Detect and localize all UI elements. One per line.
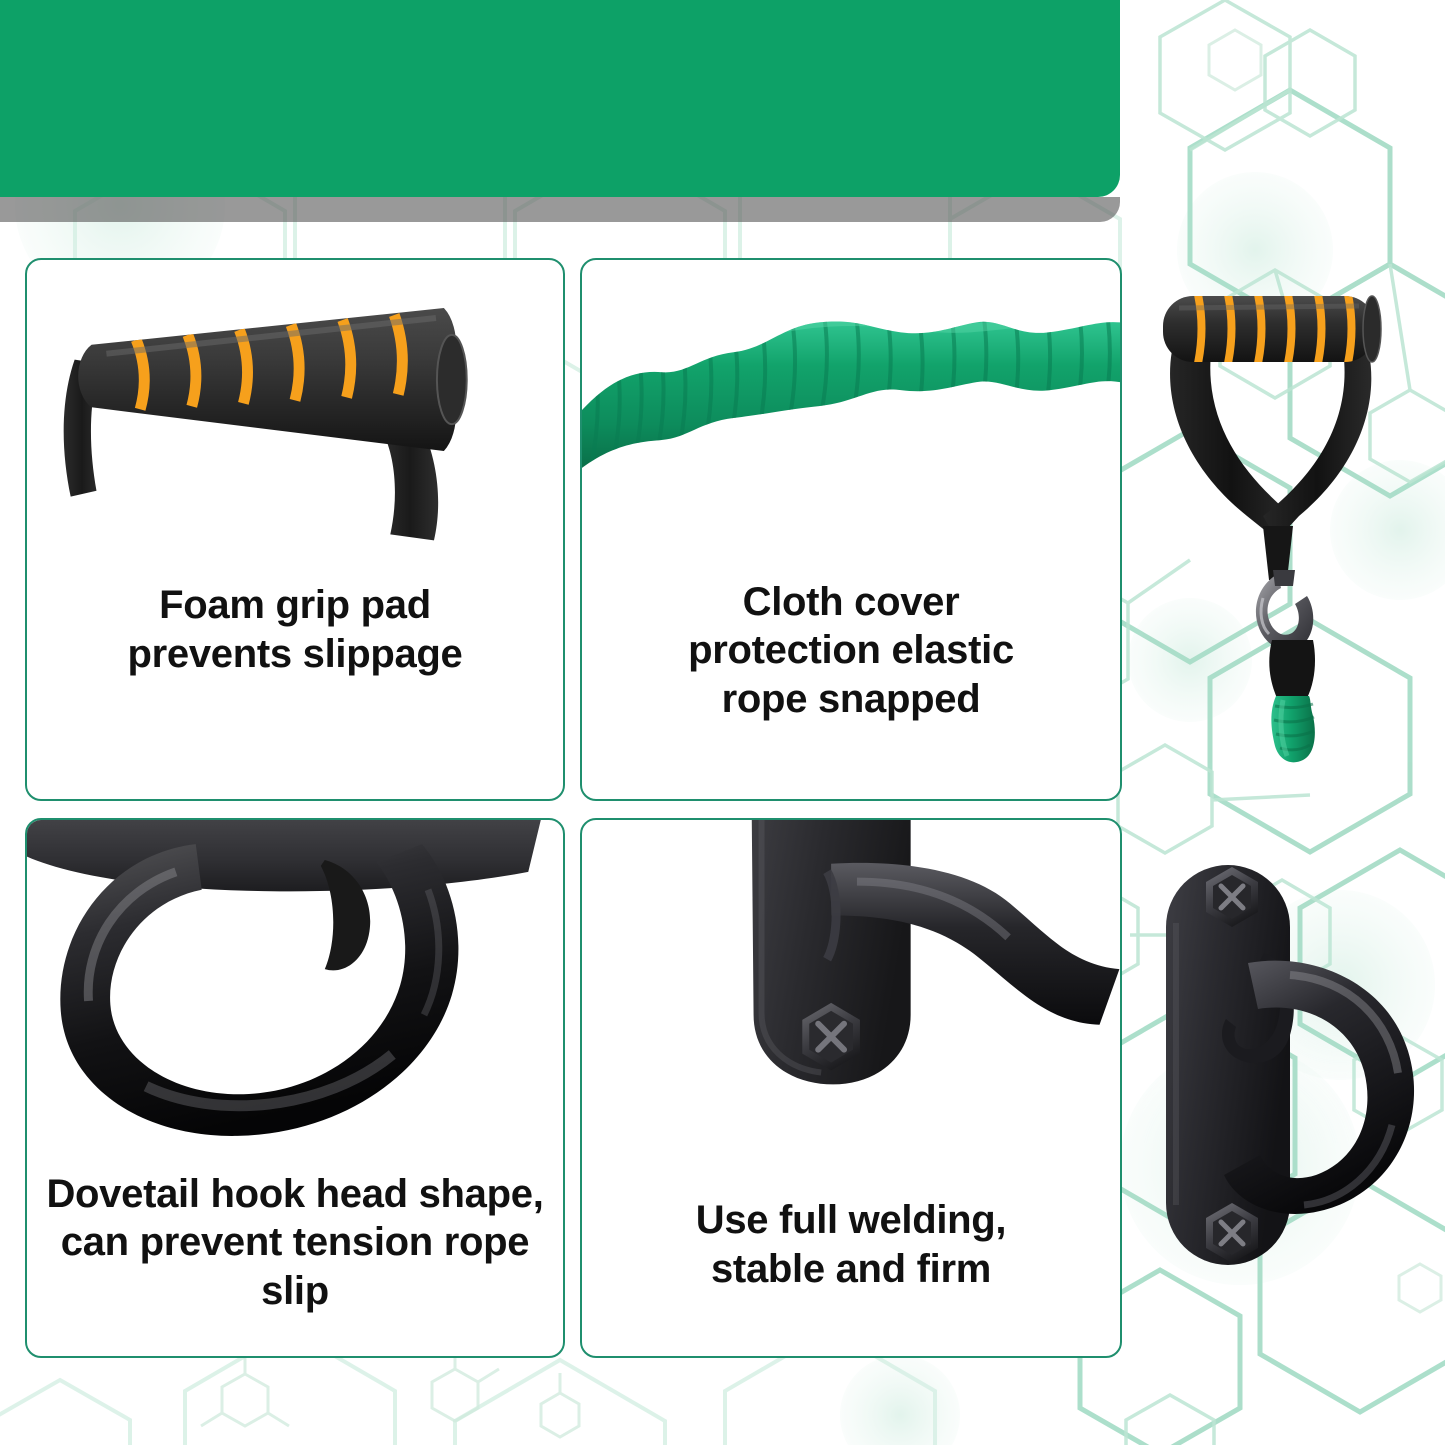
panel-caption: Use full welding, stable and firm [594,1196,1108,1294]
panel-caption: Dovetail hook head shape, can prevent te… [39,1170,551,1316]
foam-tube-end-cap [437,335,467,424]
infographic-page: PRODUCT DETAILS Tension rope with hook [0,0,1445,1445]
caption-line: Use full welding, [594,1196,1108,1245]
handle-with-carabiner-and-rope-photo [1135,268,1435,768]
caption-line: Cloth cover [594,578,1108,627]
green-rope-tip [1271,696,1315,762]
dovetail-hook-closeup-photo [27,820,563,1158]
foam-grip-bar [1163,290,1381,368]
caption-line: prevents slippage [39,630,551,679]
panel-caption: Foam grip pad prevents slippage [39,581,551,679]
grip-bar-end-cap [1363,296,1381,362]
feature-panel-cloth-cover: Cloth cover protection elastic rope snap… [580,258,1122,801]
header-band [0,0,1120,197]
feature-panel-full-welding: Use full welding, stable and firm [580,818,1122,1358]
caption-line: rope snapped [594,675,1108,724]
feature-panel-foam-grip: Foam grip pad prevents slippage [25,258,565,801]
caption-line: slip [39,1267,551,1316]
wall-mount-hook-photo [1140,845,1440,1300]
caption-line: Dovetail hook head shape, [39,1170,551,1219]
caption-line: stable and firm [594,1245,1108,1294]
green-cloth-covered-rope-photo [582,260,1120,590]
caption-line: can prevent tension rope [39,1218,551,1267]
header-accent-bar [0,197,1120,222]
carabiner-icon [1256,570,1313,650]
welded-hook-base-photo [582,820,1120,1158]
caption-line: Foam grip pad [39,581,551,630]
caption-line: protection elastic [594,626,1108,675]
rope-end-sleeve [1269,640,1315,698]
hook-mount-plate [25,818,543,891]
foam-tube [78,308,467,451]
panel-caption: Cloth cover protection elastic rope snap… [594,578,1108,724]
feature-panel-dovetail-hook: Dovetail hook head shape, can prevent te… [25,818,565,1358]
